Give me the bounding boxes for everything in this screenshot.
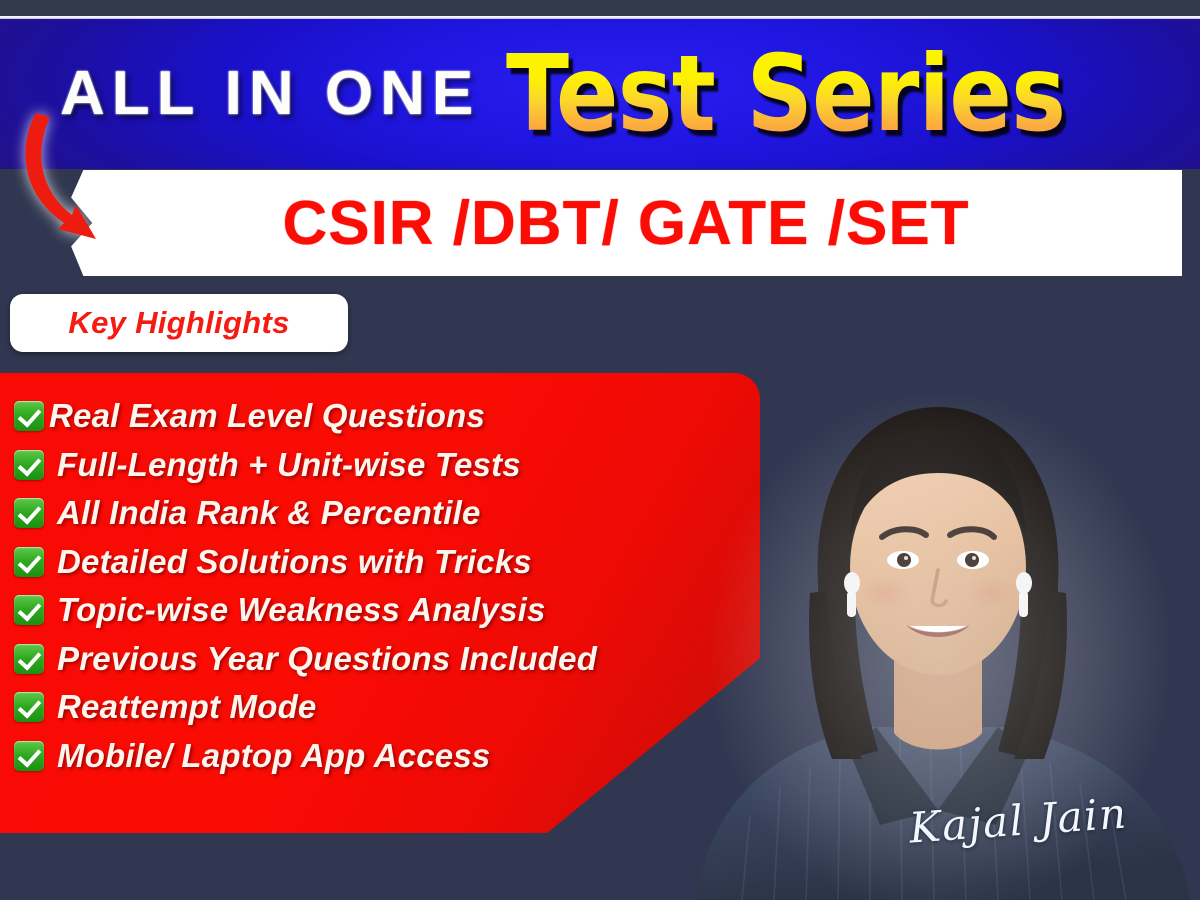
list-item: Real Exam Level Questions bbox=[14, 392, 704, 441]
list-item: Detailed Solutions with Tricks bbox=[14, 538, 704, 587]
exam-banner-text: CSIR /DBT/ GATE /SET bbox=[70, 170, 1182, 276]
green-check-box-icon bbox=[14, 741, 44, 771]
green-check-box-icon bbox=[14, 692, 44, 722]
list-item-label: Real Exam Level Questions bbox=[49, 397, 485, 435]
list-item: Previous Year Questions Included bbox=[14, 635, 704, 684]
title-test-series: Test Series bbox=[506, 42, 1065, 147]
list-item: Full-Length + Unit-wise Tests bbox=[14, 441, 704, 490]
promo-banner: ALL IN ONE Test Series CSIR /DBT/ GATE /… bbox=[0, 0, 1200, 900]
list-item-label: All India Rank & Percentile bbox=[49, 494, 481, 532]
list-item: All India Rank & Percentile bbox=[14, 489, 704, 538]
list-item: Reattempt Mode bbox=[14, 683, 704, 732]
header-title-row: ALL IN ONE Test Series bbox=[0, 19, 1200, 169]
list-item-label: Full-Length + Unit-wise Tests bbox=[49, 446, 521, 484]
green-check-box-icon bbox=[14, 644, 44, 674]
instructor-portrait: Kajal Jain bbox=[680, 355, 1200, 900]
curved-down-right-arrow-icon bbox=[6, 105, 116, 255]
top-strip bbox=[0, 0, 1200, 16]
title-all-in-one: ALL IN ONE bbox=[60, 63, 480, 125]
key-highlights-label: Key Highlights bbox=[68, 305, 289, 341]
features-list: Real Exam Level Questions Full-Length + … bbox=[14, 392, 704, 780]
list-item-label: Topic-wise Weakness Analysis bbox=[49, 591, 546, 629]
green-check-box-icon bbox=[14, 498, 44, 528]
list-item-label: Mobile/ Laptop App Access bbox=[49, 737, 490, 775]
green-check-box-icon bbox=[14, 401, 44, 431]
list-item-label: Reattempt Mode bbox=[49, 688, 317, 726]
list-item-label: Detailed Solutions with Tricks bbox=[49, 543, 532, 581]
list-item: Mobile/ Laptop App Access bbox=[14, 732, 704, 781]
key-highlights-badge: Key Highlights bbox=[10, 294, 348, 352]
list-item: Topic-wise Weakness Analysis bbox=[14, 586, 704, 635]
green-check-box-icon bbox=[14, 450, 44, 480]
list-item-label: Previous Year Questions Included bbox=[49, 640, 597, 678]
green-check-box-icon bbox=[14, 595, 44, 625]
green-check-box-icon bbox=[14, 547, 44, 577]
